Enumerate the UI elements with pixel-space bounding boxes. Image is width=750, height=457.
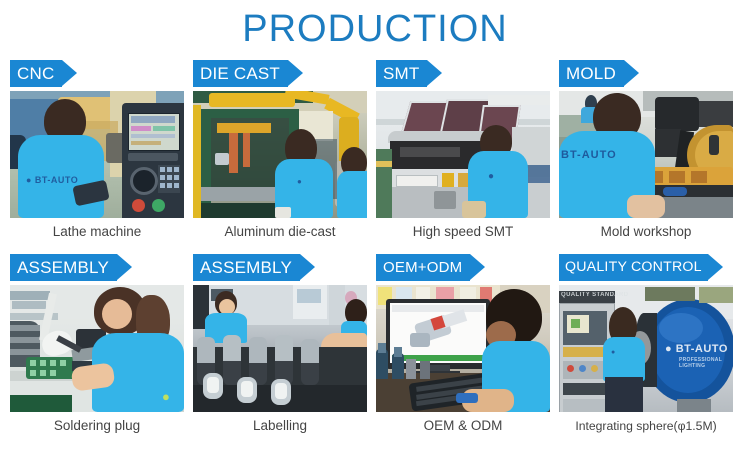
photo-soldering-plug: ● [10,285,184,412]
production-row-2: ASSEMBLY [10,254,742,440]
production-cell-cnc[interactable]: CNC [10,60,184,246]
production-cell-smt[interactable]: SMT [376,60,550,246]
badge-cnc: CNC [10,60,62,87]
production-grid: CNC [10,60,742,448]
caption-aluminum-die-cast: Aluminum die-cast [193,218,367,246]
caption-integrating-sphere: Integrating sphere(φ1.5M) [559,412,733,440]
caption-oem-odm: OEM & ODM [376,412,550,440]
photo-integrating-sphere: QUALITY STANDARD [559,285,733,412]
badge-oem-odm: OEM+ODM [376,254,470,281]
photo-mold: BT-AUTO [559,91,733,218]
production-row-1: CNC [10,60,742,246]
photo-smt: ● [376,91,550,218]
badge-die-cast: DIE CAST [193,60,288,87]
photo-oem-odm [376,285,550,412]
caption-lathe-machine: Lathe machine [10,218,184,246]
production-page: PRODUCTION CNC [0,0,750,457]
production-cell-quality-control[interactable]: QUALITY CONTROL QUALITY STANDARD [559,254,733,440]
caption-high-speed-smt: High speed SMT [376,218,550,246]
caption-mold-workshop: Mold workshop [559,218,733,246]
page-title: PRODUCTION [0,6,750,52]
caption-labelling: Labelling [193,412,367,440]
production-cell-die-cast[interactable]: DIE CAST [193,60,367,246]
badge-mold: MOLD [559,60,624,87]
photo-die-cast: ● [193,91,367,218]
badge-quality-control: QUALITY CONTROL [559,254,708,281]
production-cell-oem-odm[interactable]: OEM+ODM [376,254,550,440]
production-cell-assembly-label[interactable]: ASSEMBLY [193,254,367,440]
caption-soldering-plug: Soldering plug [10,412,184,440]
photo-cnc: ● BT-AUTO [10,91,184,218]
badge-assembly-1: ASSEMBLY [10,254,117,281]
production-cell-mold[interactable]: MOLD [559,60,733,246]
production-cell-assembly-solder[interactable]: ASSEMBLY [10,254,184,440]
badge-assembly-2: ASSEMBLY [193,254,300,281]
badge-smt: SMT [376,60,427,87]
photo-labelling [193,285,367,412]
